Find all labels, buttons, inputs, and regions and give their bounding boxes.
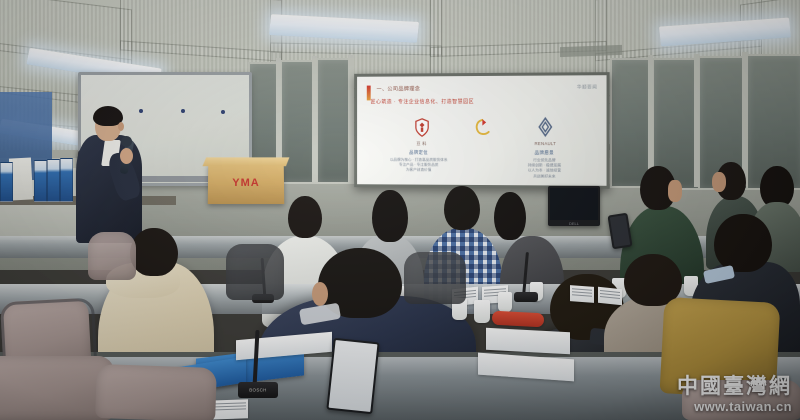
name-card	[598, 287, 622, 306]
desktop-monitor: DELL	[548, 186, 600, 226]
slide-corner-label: 华顺要闻	[577, 84, 597, 90]
carton-brand-label: YMA	[208, 177, 284, 189]
monitor-screen	[550, 188, 598, 220]
slide-column-body: 以品牌为核心 · 打造高品质服务体系 专注产品 · 专注服务品质 为客户创造价值	[377, 158, 462, 174]
blue-display-box	[34, 160, 47, 202]
diamond-icon	[513, 114, 578, 140]
carton-lid	[202, 157, 289, 166]
slide-logo-shield: 豆 料	[390, 114, 453, 147]
slide-column-line: 为客户创造价值	[377, 168, 462, 174]
watermark: 中國臺灣網 www.taiwan.cn	[677, 374, 792, 414]
partition-mullion	[742, 52, 748, 186]
presenter-hand	[120, 148, 133, 164]
slide-column-line: 共创美好未来	[501, 174, 588, 180]
chair-back-dark	[404, 252, 466, 304]
attendee-back-right-face	[712, 172, 726, 192]
attendee-green-jacket-face	[668, 180, 682, 202]
attendee-right-midrow-head	[494, 192, 526, 240]
microphone-base	[514, 292, 538, 302]
name-card	[570, 285, 594, 303]
tablet-on-table	[326, 338, 379, 414]
watermark-site-name: 中國臺灣網	[677, 374, 792, 398]
projection-screen: 一、公司品牌理念 匠心筑造 · 专注企业信息化、打造智慧园区 华顺要闻 豆 料	[354, 72, 609, 189]
slide-logo-ribbon	[451, 114, 515, 141]
slide-subtitle: 匠心筑造 · 专注企业信息化、打造智慧园区	[371, 98, 474, 105]
bosch-microphone-base: BOSCH	[238, 382, 278, 398]
attendee-long-hair-head	[372, 190, 408, 242]
monitor-brand-label: DELL	[548, 221, 600, 226]
tablet-screen	[610, 215, 630, 247]
slide-logo-diamond: RENAULT	[513, 114, 578, 146]
presenter-ear	[118, 122, 124, 131]
partition-mullion	[694, 54, 699, 187]
cardboard-carton: YMA	[208, 164, 285, 204]
partition-mullion	[348, 55, 354, 183]
empty-chair	[95, 364, 217, 420]
printed-handout	[486, 328, 570, 354]
paper-cup	[474, 300, 490, 323]
attendee-navy-suit-ear	[312, 282, 328, 306]
microphone-head	[121, 136, 132, 147]
blue-display-box	[0, 162, 13, 202]
shield-icon	[390, 114, 453, 140]
slide-title: 一、公司品牌理念	[377, 85, 421, 92]
slide-column-heading: 品牌定位	[382, 150, 455, 156]
blue-display-box	[47, 159, 60, 202]
slide-column-heading: 品牌愿景	[507, 150, 582, 156]
blue-display-box	[60, 158, 73, 202]
attendee-white-blouse-head	[288, 196, 322, 238]
attendee-checkered-shirt-head	[444, 186, 480, 230]
partition-mullion	[312, 56, 317, 182]
slide-logo-shield-label: 豆 料	[390, 141, 453, 147]
watermark-url: www.taiwan.cn	[677, 399, 792, 414]
slide-column-body: 行业领先品牌 持续创新 · 稳健发展 以人为本 · 诚信经营 共创美好未来	[501, 158, 588, 179]
chair-back-dark	[226, 244, 284, 300]
chair-back-fabric	[88, 232, 136, 280]
presentation-slide: 一、公司品牌理念 匠心筑造 · 专注企业信息化、打造智慧园区 华顺要闻 豆 料	[357, 75, 606, 186]
slide-logo-diamond-label: RENAULT	[513, 141, 578, 146]
bosch-brand-label: BOSCH	[238, 388, 278, 393]
attendee-dark-suit-right-head	[714, 214, 772, 272]
paper-cup	[498, 292, 512, 312]
tablet-screen	[329, 340, 378, 412]
red-snack-packet	[492, 311, 545, 328]
attendee-cream-hoodie-head	[130, 228, 178, 276]
conference-room-photo: 一、公司品牌理念 匠心筑造 · 专注企业信息化、打造智慧园区 华顺要闻 豆 料	[0, 0, 800, 420]
ribbon-icon	[451, 114, 515, 140]
